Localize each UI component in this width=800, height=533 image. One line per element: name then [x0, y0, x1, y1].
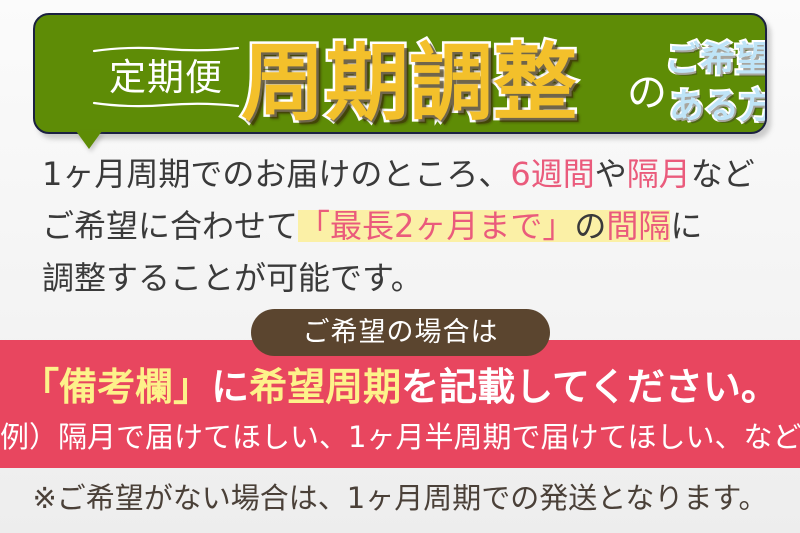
band-l1-seg2: に — [211, 365, 249, 409]
header-speech-bubble: 定期便 周期調整 の ご希望が ある方へ — [33, 13, 767, 134]
header-section: 定期便 周期調整 の ご希望が ある方へ — [0, 0, 800, 150]
band-instruction-line: 「備考欄」に希望周期を記載してください。 — [0, 363, 800, 411]
body-line-1: 1ヶ月周期でのお届けのところ、6週間や隔月など — [42, 148, 772, 200]
body-l1-accent-bimonthly: 隔月 — [627, 155, 691, 193]
header-blue-line-2: ある方へ — [669, 84, 767, 131]
body-l3-seg1: 調整することが可能です。 — [42, 259, 423, 297]
request-case-pill: ご希望の場合は — [251, 309, 550, 356]
wave-rule-top-icon — [92, 45, 240, 54]
speech-bubble-tail-icon — [76, 131, 102, 149]
body-l1-seg5: など — [691, 155, 755, 193]
body-l1-accent-6weeks: 6週間 — [510, 155, 594, 193]
band-accent-remarks-field: 「備考欄」 — [21, 365, 211, 409]
body-l2-seg5: に — [670, 207, 702, 245]
subscription-badge-label: 定期便 — [92, 54, 240, 100]
request-case-pill-label: ご希望の場合は — [303, 319, 499, 346]
body-l1-seg1: 1ヶ月周期でのお届けのところ、 — [42, 155, 510, 193]
header-particle: の — [627, 71, 667, 115]
wave-rule-bottom-icon — [92, 100, 240, 109]
header-main-title: 周期調整 — [241, 31, 577, 134]
body-l2-highlight-interval: 間隔 — [606, 207, 670, 245]
header-blue-line-1: ご希望が — [665, 37, 767, 84]
body-l2-highlight-maxperiod: 「最長2ヶ月まで」 — [298, 207, 574, 245]
body-l2-seg3: の — [574, 207, 606, 245]
body-paragraph: 1ヶ月周期でのお届けのところ、6週間や隔月など ご希望に合わせて「最長2ヶ月まで… — [42, 148, 772, 304]
body-l1-seg3: や — [595, 155, 627, 193]
band-accent-desired-cycle: 希望周期 — [249, 365, 401, 409]
subscription-badge: 定期便 — [92, 45, 240, 109]
header-blue-text: ご希望が ある方へ — [665, 37, 767, 131]
band-l1-seg4: を記載してください。 — [401, 365, 779, 409]
promo-banner: 定期便 周期調整 の ご希望が ある方へ 1ヶ月周期でのお届けのところ、6週間や… — [0, 0, 800, 533]
body-line-2: ご希望に合わせて「最長2ヶ月まで」の間隔に — [42, 200, 772, 252]
band-example-line: 例）隔月で届けてほしい、1ヶ月半周期で届けてほしい、など — [0, 418, 800, 456]
footer-note: ※ご希望がない場合は、1ヶ月周期での発送となります。 — [0, 478, 800, 518]
body-l2-seg1: ご希望に合わせて — [42, 207, 298, 245]
body-line-3: 調整することが可能です。 — [42, 252, 772, 304]
